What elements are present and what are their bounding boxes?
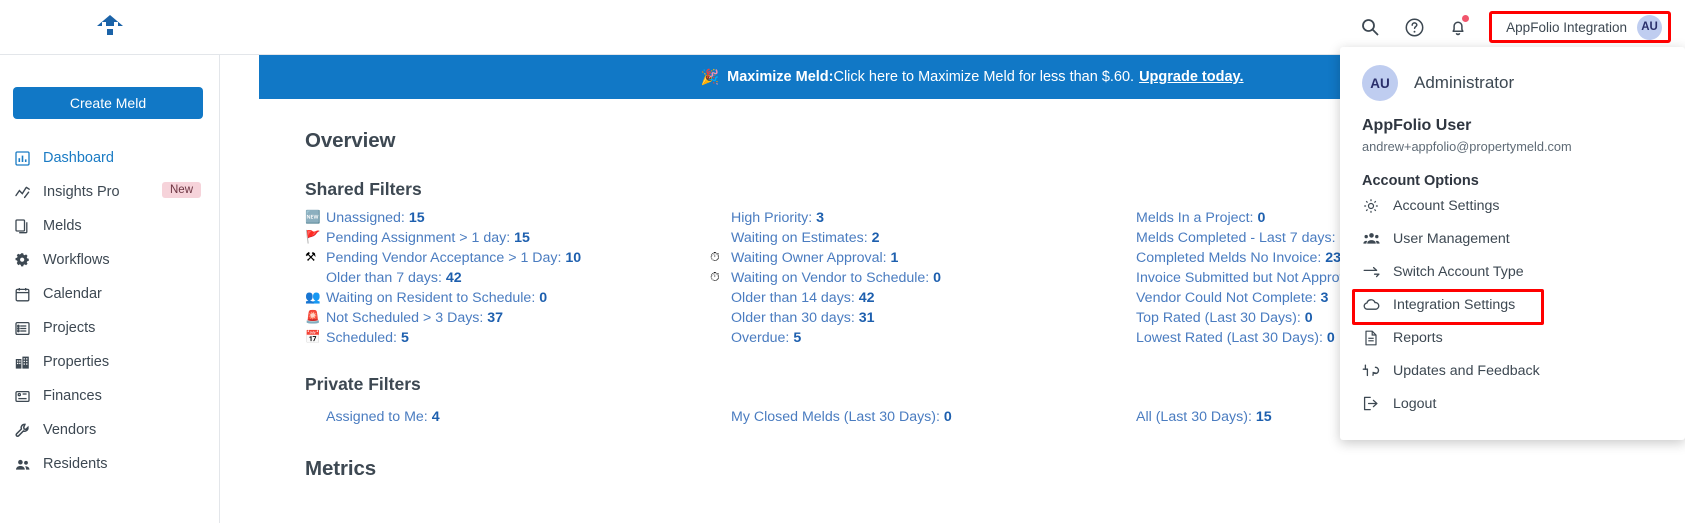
notification-bell-icon[interactable] [1445,14,1471,40]
account-options-heading: Account Options [1340,154,1685,189]
filter-link[interactable]: Vendor Could Not Complete: 3 [1136,290,1328,306]
shared-filters-column-2: High Priority: 3Waiting on Estimates: 2⏱… [710,208,1115,348]
shared-filter-row[interactable]: Older than 30 days: 31 [710,308,1115,327]
shared-filter-row[interactable]: Older than 14 days: 42 [710,288,1115,307]
account-dropdown-menu: AU Administrator AppFolio User andrew+ap… [1340,47,1685,440]
sidebar-item-melds[interactable]: Melds [0,209,219,243]
private-filter-row[interactable]: Assigned to Me: 4 [305,407,710,426]
shared-filter-row[interactable]: 🆕Unassigned: 15 [305,208,710,227]
app-root: AppFolio Integration AU Create Meld Dash… [0,0,1685,523]
metrics-heading: Metrics [305,457,1685,481]
filter-row-icon: ⚒ [305,251,322,264]
filter-row-icon: 👥 [305,291,322,304]
private-filters-column-2: My Closed Melds (Last 30 Days): 0 [710,407,1115,427]
filter-link[interactable]: Unassigned: 15 [326,210,425,226]
filter-link[interactable]: Melds In a Project: 0 [1136,210,1265,226]
filter-link[interactable]: My Closed Melds (Last 30 Days): 0 [731,409,952,425]
sidebar-item-finances[interactable]: Finances [0,379,219,413]
party-popper-icon: 🎉 [700,68,719,86]
shared-filters-column-1: 🆕Unassigned: 15🚩Pending Assignment > 1 d… [305,208,710,348]
filter-count: 15 [514,230,530,246]
filter-count: 2 [872,230,880,246]
sidebar-item-label: Vendors [43,422,96,438]
filter-count: 0 [1327,330,1335,346]
filter-count: 10 [565,250,581,266]
projects-icon [14,320,31,337]
dropdown-item-logout[interactable]: Logout [1340,387,1685,420]
dropdown-item-label: Integration Settings [1393,297,1515,313]
filter-count: 42 [446,270,462,286]
property-meld-logo-icon [95,13,125,41]
filter-link[interactable]: Scheduled: 5 [326,330,409,346]
document-icon [1362,329,1380,347]
account-email: andrew+appfolio@propertymeld.com [1340,135,1685,154]
create-meld-button[interactable]: Create Meld [13,87,203,119]
account-user-name: AppFolio User [1340,101,1685,135]
filter-count: 37 [487,310,503,326]
filter-count: 1 [891,250,899,266]
feedback-icon [1362,362,1380,380]
sidebar: Create Meld Dashboard [0,55,220,523]
filter-row-icon: 🚨 [305,311,322,324]
sidebar-item-label: Workflows [43,252,110,268]
help-icon[interactable] [1401,14,1427,40]
sidebar-item-label: Calendar [43,286,102,302]
filter-row-icon: 🆕 [305,211,322,224]
filter-count: 3 [1321,290,1329,306]
dropdown-item-user-management[interactable]: User Management [1340,222,1685,255]
filter-link[interactable]: Melds Completed - Last 7 days: 2 [1136,230,1347,246]
dropdown-item-label: Reports [1393,330,1443,346]
filter-link[interactable]: All (Last 30 Days): 15 [1136,409,1272,425]
shared-filter-row[interactable]: 🚩Pending Assignment > 1 day: 15 [305,228,710,247]
filter-count: 42 [859,290,875,306]
filter-link[interactable]: Waiting on Vendor to Schedule: 0 [731,270,941,286]
filter-link[interactable]: Older than 7 days: 42 [326,270,462,286]
filter-link[interactable]: Overdue: 5 [731,330,801,346]
filter-link[interactable]: Waiting on Resident to Schedule: 0 [326,290,547,306]
filter-count: 31 [859,310,875,326]
sidebar-item-label: Properties [43,354,109,370]
sidebar-item-residents[interactable]: Residents [0,447,219,481]
filter-count: 0 [1257,210,1265,226]
properties-building-icon [14,354,31,371]
filter-link[interactable]: Not Scheduled > 3 Days: 37 [326,310,503,326]
sidebar-item-properties[interactable]: Properties [0,345,219,379]
sidebar-item-label: Finances [43,388,102,404]
sidebar-item-label: Residents [43,456,107,472]
sidebar-item-vendors[interactable]: Vendors [0,413,219,447]
dropdown-item-label: User Management [1393,231,1510,247]
filter-link[interactable]: Waiting on Estimates: 2 [731,230,880,246]
cloud-icon [1362,296,1380,314]
filter-link[interactable]: Invoice Submitted but Not Approved: [1136,270,1366,286]
private-filters-column-1: Assigned to Me: 4 [305,407,710,427]
shared-filter-row[interactable]: ⚒Pending Vendor Acceptance > 1 Day: 10 [305,248,710,267]
filter-count: 15 [409,210,425,226]
dashboard-icon [14,150,31,167]
search-icon[interactable] [1357,14,1383,40]
finances-icon [14,388,31,405]
sidebar-nav: Dashboard Insights Pro New [0,141,219,481]
shared-filter-row[interactable]: Overdue: 5 [710,328,1115,347]
filter-count: 0 [933,270,941,286]
filter-count: 3 [816,210,824,226]
sidebar-item-label: Melds [43,218,82,234]
sidebar-item-dashboard[interactable]: Dashboard [0,141,219,175]
shared-filter-row[interactable]: ⏱ Waiting on Vendor to Schedule: 0 [710,268,1115,287]
filter-count: 0 [1305,310,1313,326]
shared-filter-row[interactable]: 🚨Not Scheduled > 3 Days: 37 [305,308,710,327]
filter-row-icon: 📅 [305,331,322,344]
shared-filter-row[interactable]: Older than 7 days: 42 [305,268,710,287]
filter-row-icon: ⏱ [710,251,727,264]
banner-bold-prefix: Maximize Meld: [727,69,833,85]
filter-link[interactable]: Lowest Rated (Last 30 Days): 0 [1136,330,1335,346]
dropdown-header: AU Administrator [1340,61,1685,101]
upgrade-today-link[interactable]: Upgrade today. [1139,69,1243,85]
filter-count: 5 [793,330,801,346]
shared-filter-row[interactable]: ⏱Waiting Owner Approval: 1 [710,248,1115,267]
sidebar-item-projects[interactable]: Projects [0,311,219,345]
filter-link[interactable]: Completed Melds No Invoice: 23 [1136,250,1341,266]
avatar: AU [1637,15,1662,40]
dropdown-item-account-settings[interactable]: Account Settings [1340,189,1685,222]
user-account-menu-button[interactable]: AppFolio Integration AU [1489,11,1671,43]
filter-link[interactable]: Assigned to Me: 4 [326,409,440,425]
filter-row-icon: 🚩 [305,231,322,244]
sidebar-item-label: Projects [43,320,95,336]
filter-link[interactable]: Pending Vendor Acceptance > 1 Day: 10 [326,250,581,266]
new-badge: New [162,182,201,198]
filter-link[interactable]: Older than 30 days: 31 [731,310,875,326]
filter-link[interactable]: Waiting Owner Approval: 1 [731,250,898,266]
vendors-wrench-icon [14,422,31,439]
dropdown-item-updates-and-feedback[interactable]: Updates and Feedback [1340,354,1685,387]
shared-filter-row[interactable]: 📅Scheduled: 5 [305,328,710,347]
gear-icon [1362,197,1380,215]
dropdown-item-label: Switch Account Type [1393,264,1524,280]
user-chip-name: AppFolio Integration [1506,20,1627,35]
insights-icon [14,184,31,201]
banner-text: Click here to Maximize Meld for less tha… [833,69,1134,85]
account-options-list: Account SettingsUser ManagementSwitch Ac… [1340,189,1685,420]
shared-filter-row[interactable]: 👥Waiting on Resident to Schedule: 0 [305,288,710,307]
filter-link[interactable]: High Priority: 3 [731,210,824,226]
filter-count: 5 [401,330,409,346]
sidebar-item-calendar[interactable]: Calendar [0,277,219,311]
filter-count: 15 [1256,409,1272,425]
dropdown-item-integration-settings[interactable]: Integration Settings [1340,288,1685,321]
melds-icon [14,218,31,235]
avatar: AU [1362,65,1398,101]
dropdown-item-reports[interactable]: Reports [1340,321,1685,354]
dropdown-item-label: Logout [1393,396,1436,412]
users-icon [1362,230,1380,248]
filter-count: 4 [432,409,440,425]
filter-count: 0 [539,290,547,306]
filter-link[interactable]: Top Rated (Last 30 Days): 0 [1136,310,1313,326]
account-role: Administrator [1414,73,1514,93]
residents-people-icon [14,456,31,473]
switch-arrows-icon [1362,263,1380,281]
filter-count: 0 [944,409,952,425]
sidebar-item-insights-pro[interactable]: Insights Pro New [0,175,219,209]
sidebar-item-workflows[interactable]: Workflows [0,243,219,277]
logout-icon [1362,395,1380,413]
dropdown-item-label: Account Settings [1393,198,1499,214]
private-filter-row[interactable]: My Closed Melds (Last 30 Days): 0 [710,407,1115,426]
shared-filter-row[interactable]: Waiting on Estimates: 2 [710,228,1115,247]
filter-count: 23 [1325,250,1341,266]
workflows-gear-icon [14,252,31,269]
sidebar-item-label: Insights Pro [43,184,120,200]
app-logo[interactable] [0,0,220,55]
filter-link[interactable]: Pending Assignment > 1 day: 15 [326,230,530,246]
calendar-icon [14,286,31,303]
filter-row-icon: ⏱ [710,271,727,284]
dropdown-item-switch-account-type[interactable]: Switch Account Type [1340,255,1685,288]
filter-link[interactable]: Older than 14 days: 42 [731,290,875,306]
sidebar-item-label: Dashboard [43,150,114,166]
dropdown-item-label: Updates and Feedback [1393,363,1540,379]
shared-filter-row[interactable]: High Priority: 3 [710,208,1115,227]
